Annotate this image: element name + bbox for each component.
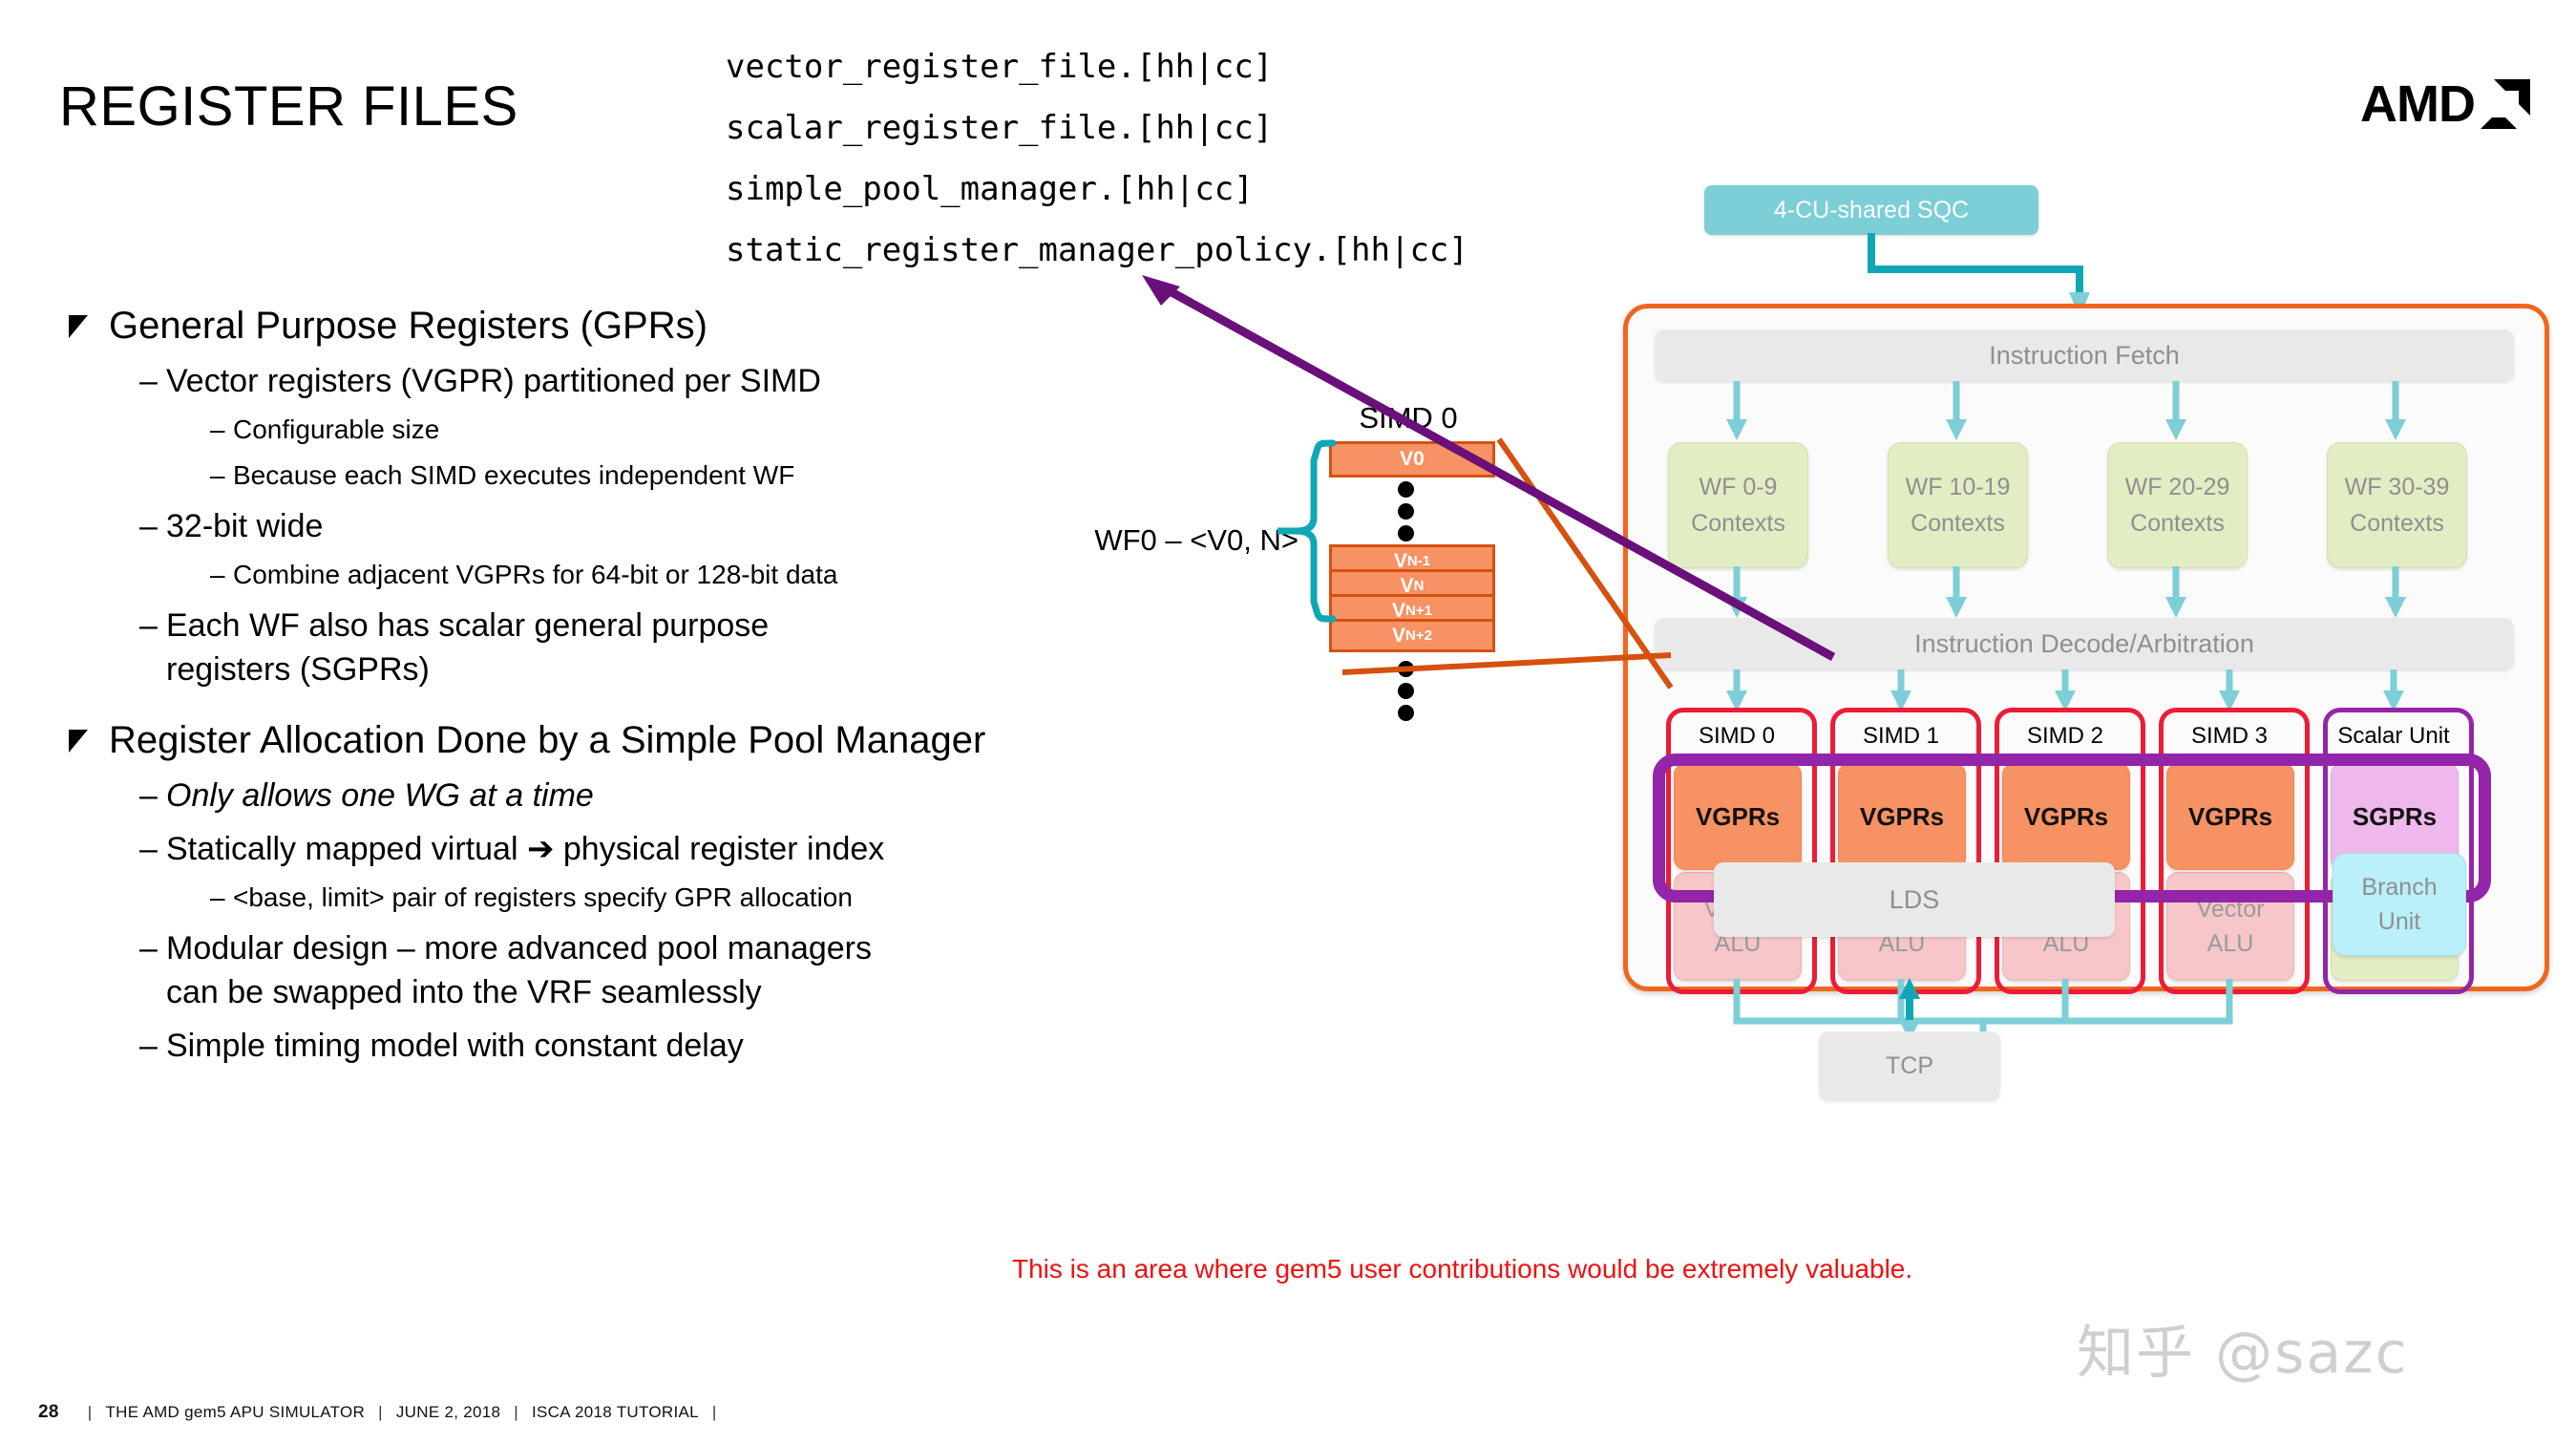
bullet-level3: – Combine adjacent VGPRs for 64-bit or 1… (210, 556, 1184, 594)
bullet-level3: – <base, limit> pair of registers specif… (210, 879, 1184, 917)
dash-bullet-icon: – (210, 879, 233, 917)
vgpr-block: VGPRs (1838, 763, 1966, 870)
bullet-text: 32-bit wide (166, 504, 323, 548)
bullet-text: Modular design – more advanced pool mana… (166, 926, 930, 1014)
bullet-text: Configurable size (233, 411, 439, 449)
gem5-contribution-note: This is an area where gem5 user contribu… (1012, 1254, 1912, 1285)
simd-column: SIMD 3 Vector ALU VGPRs (2159, 708, 2300, 994)
watermark: 知乎 @sazc (2077, 1306, 2409, 1390)
wf-sub-label: Contexts (2350, 505, 2444, 541)
slide-canvas: REGISTER FILES AMD vector_register_file.… (0, 0, 2576, 1444)
simd-title: SIMD 3 (2159, 723, 2300, 750)
dash-bullet-icon: – (139, 504, 166, 548)
bullet-level2: – Vector registers (VGPR) partitioned pe… (139, 359, 1184, 403)
bullet-text: Each WF also has scalar general purpose … (166, 604, 873, 691)
code-file-line: vector_register_file.[hh|cc] (726, 36, 1468, 97)
simd-column: SIMD 1 Vector ALU VGPRs (1830, 708, 1972, 994)
bullet-level2: – Each WF also has scalar general purpos… (139, 604, 1184, 691)
bullet-text: Vector registers (VGPR) partitioned per … (166, 359, 821, 403)
vgpr-to-code-pointer-arrow-icon (1127, 267, 2206, 678)
footer-event: ISCA 2018 TUTORIAL (532, 1403, 699, 1422)
code-file-line: scalar_register_file.[hh|cc] (726, 97, 1468, 159)
triangle-bullet-icon (69, 730, 88, 753)
bullet-level1: General Purpose Registers (GPRs) (57, 302, 1184, 350)
bullet-text: General Purpose Registers (GPRs) (109, 302, 707, 350)
bullet-level2: – Statically mapped virtual ➔ physical r… (139, 827, 1184, 871)
bullet-level1: Register Allocation Done by a Simple Poo… (57, 716, 1184, 764)
page-title: REGISTER FILES (59, 74, 518, 138)
source-file-list: vector_register_file.[hh|cc] scalar_regi… (726, 36, 1468, 281)
wf-range-label: WF 30-39 (2345, 469, 2450, 505)
footer-separator: | (514, 1403, 518, 1422)
vgpr-block: VGPRs (2166, 763, 2294, 870)
amd-logo: AMD (2360, 78, 2530, 130)
bullet-text: Combine adjacent VGPRs for 64-bit or 128… (233, 556, 837, 594)
amd-arrow-icon (2481, 79, 2530, 129)
scalar-title: Scalar Unit (2323, 723, 2464, 750)
bullet-text: Statically mapped virtual ➔ physical reg… (166, 827, 884, 871)
branch-unit-block: Branch Unit (2333, 853, 2466, 956)
bullet-text: Register Allocation Done by a Simple Poo… (109, 716, 985, 764)
footer-separator: | (712, 1403, 717, 1422)
bullet-text: <base, limit> pair of registers specify … (233, 879, 853, 917)
dash-bullet-icon: – (139, 827, 166, 871)
branch-unit-line1: Branch (2361, 870, 2437, 904)
dash-bullet-icon: – (139, 926, 166, 970)
dash-bullet-icon: – (210, 556, 233, 594)
lds-block: LDS (1714, 862, 2115, 937)
dash-bullet-icon: – (210, 411, 233, 449)
dash-bullet-icon: – (139, 604, 166, 648)
simd-title: SIMD 2 (1995, 723, 2136, 750)
dash-bullet-icon: – (139, 359, 166, 403)
sqc-block: 4-CU-shared SQC (1704, 185, 2038, 235)
footer-deck-title: THE AMD gem5 APU SIMULATOR (105, 1403, 365, 1422)
page-number: 28 (38, 1402, 59, 1423)
wf-context-block: WF 30-39 Contexts (2327, 442, 2467, 568)
footer-separator: | (378, 1403, 383, 1422)
slide-footer: 28 | THE AMD gem5 APU SIMULATOR | JUNE 2… (38, 1402, 730, 1423)
vgpr-block: VGPRs (2002, 763, 2130, 870)
tcp-block: TCP (1819, 1031, 2000, 1100)
simd-title: SIMD 1 (1830, 723, 1972, 750)
simd-column: SIMD 2 Vector ALU VGPRs (1995, 708, 2136, 994)
vector-alu-block: Vector ALU (2166, 872, 2294, 981)
alu-label-line2: ALU (2207, 926, 2254, 961)
bullet-level2: – Only allows one WG at a time (139, 774, 1184, 818)
bullet-level2: – Modular design – more advanced pool ma… (139, 926, 1184, 1014)
dash-bullet-icon: – (210, 457, 233, 495)
bullet-level3: – Because each SIMD executes independent… (210, 457, 1184, 495)
bullet-list: General Purpose Registers (GPRs) – Vecto… (57, 296, 1184, 1068)
triangle-bullet-icon (69, 315, 88, 338)
amd-wordmark: AMD (2360, 78, 2475, 130)
bullet-level2: – 32-bit wide (139, 504, 1184, 548)
dash-bullet-icon: – (139, 1024, 166, 1068)
footer-date: JUNE 2, 2018 (396, 1403, 500, 1422)
bullet-text: Simple timing model with constant delay (166, 1024, 744, 1068)
dash-bullet-icon: – (139, 774, 166, 818)
bullet-text: Because each SIMD executes independent W… (233, 457, 794, 495)
bullet-level3: – Configurable size (210, 411, 1184, 449)
branch-unit-line2: Unit (2378, 904, 2420, 939)
alu-label-line1: Vector (2197, 892, 2265, 926)
code-file-line: simple_pool_manager.[hh|cc] (726, 159, 1468, 220)
cu-to-tcp-arrow-icon (1623, 976, 2559, 1043)
bullet-text: Only allows one WG at a time (166, 774, 594, 818)
footer-separator: | (88, 1403, 93, 1422)
bullet-level2: – Simple timing model with constant dela… (139, 1024, 1184, 1068)
